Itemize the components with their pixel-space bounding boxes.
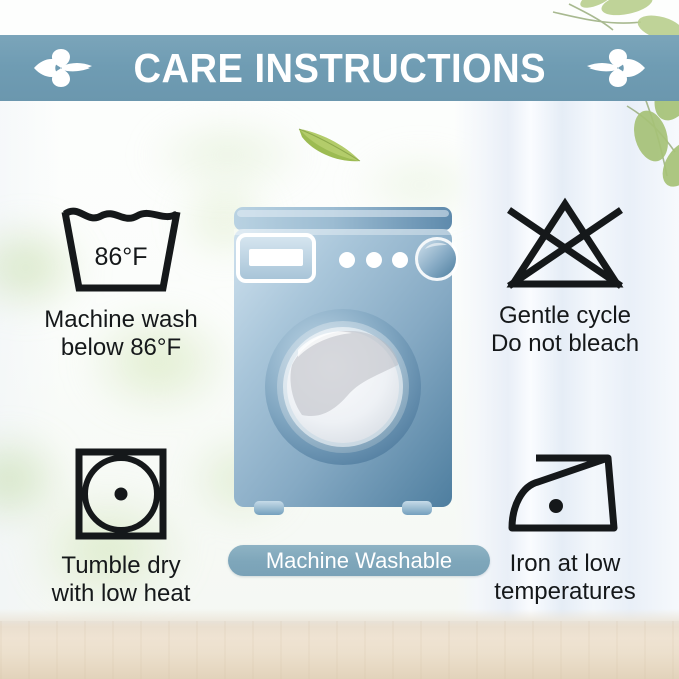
care-item-iron-low: Iron at low temperatures [452,448,678,607]
fleur-de-lis-icon [583,46,647,90]
leaf-icon [296,120,364,164]
fleur-de-lis-icon [32,46,96,90]
page-title: CARE INSTRUCTIONS [133,48,546,89]
tumble-dry-low-icon [73,446,169,542]
care-instructions-card: CARE INSTRUCTIONS [0,0,679,679]
care-item-label: Tumble dry with low heat [52,552,191,609]
table-edge [0,609,679,621]
care-item-tumble-dry: Tumble dry with low heat [16,446,226,609]
control-knob [418,240,456,278]
indicator-dot [392,252,408,268]
washer-foot [402,501,432,515]
care-item-label: Gentle cycle Do not bleach [491,302,639,359]
indicator-dot [339,252,355,268]
header-banner: CARE INSTRUCTIONS [0,35,679,101]
machine-washable-badge: Machine Washable [228,545,490,576]
care-item-machine-wash: 86°F Machine wash below 86°F [16,200,226,363]
indicator-dot [366,252,382,268]
care-item-gentle-cycle-no-bleach: Gentle cycle Do not bleach [452,196,678,359]
iron-low-temperature-icon [504,448,626,540]
do-not-bleach-triangle-icon [501,196,629,292]
table-surface [0,621,679,679]
wash-temperature-value: 86°F [53,243,189,272]
washing-machine-illustration [228,205,458,535]
care-item-label: Iron at low temperatures [494,550,635,607]
wash-tub-symbol: 86°F [53,200,189,296]
badge-label: Machine Washable [266,550,452,572]
care-item-label: Machine wash below 86°F [44,306,197,363]
washer-foot [254,501,284,515]
